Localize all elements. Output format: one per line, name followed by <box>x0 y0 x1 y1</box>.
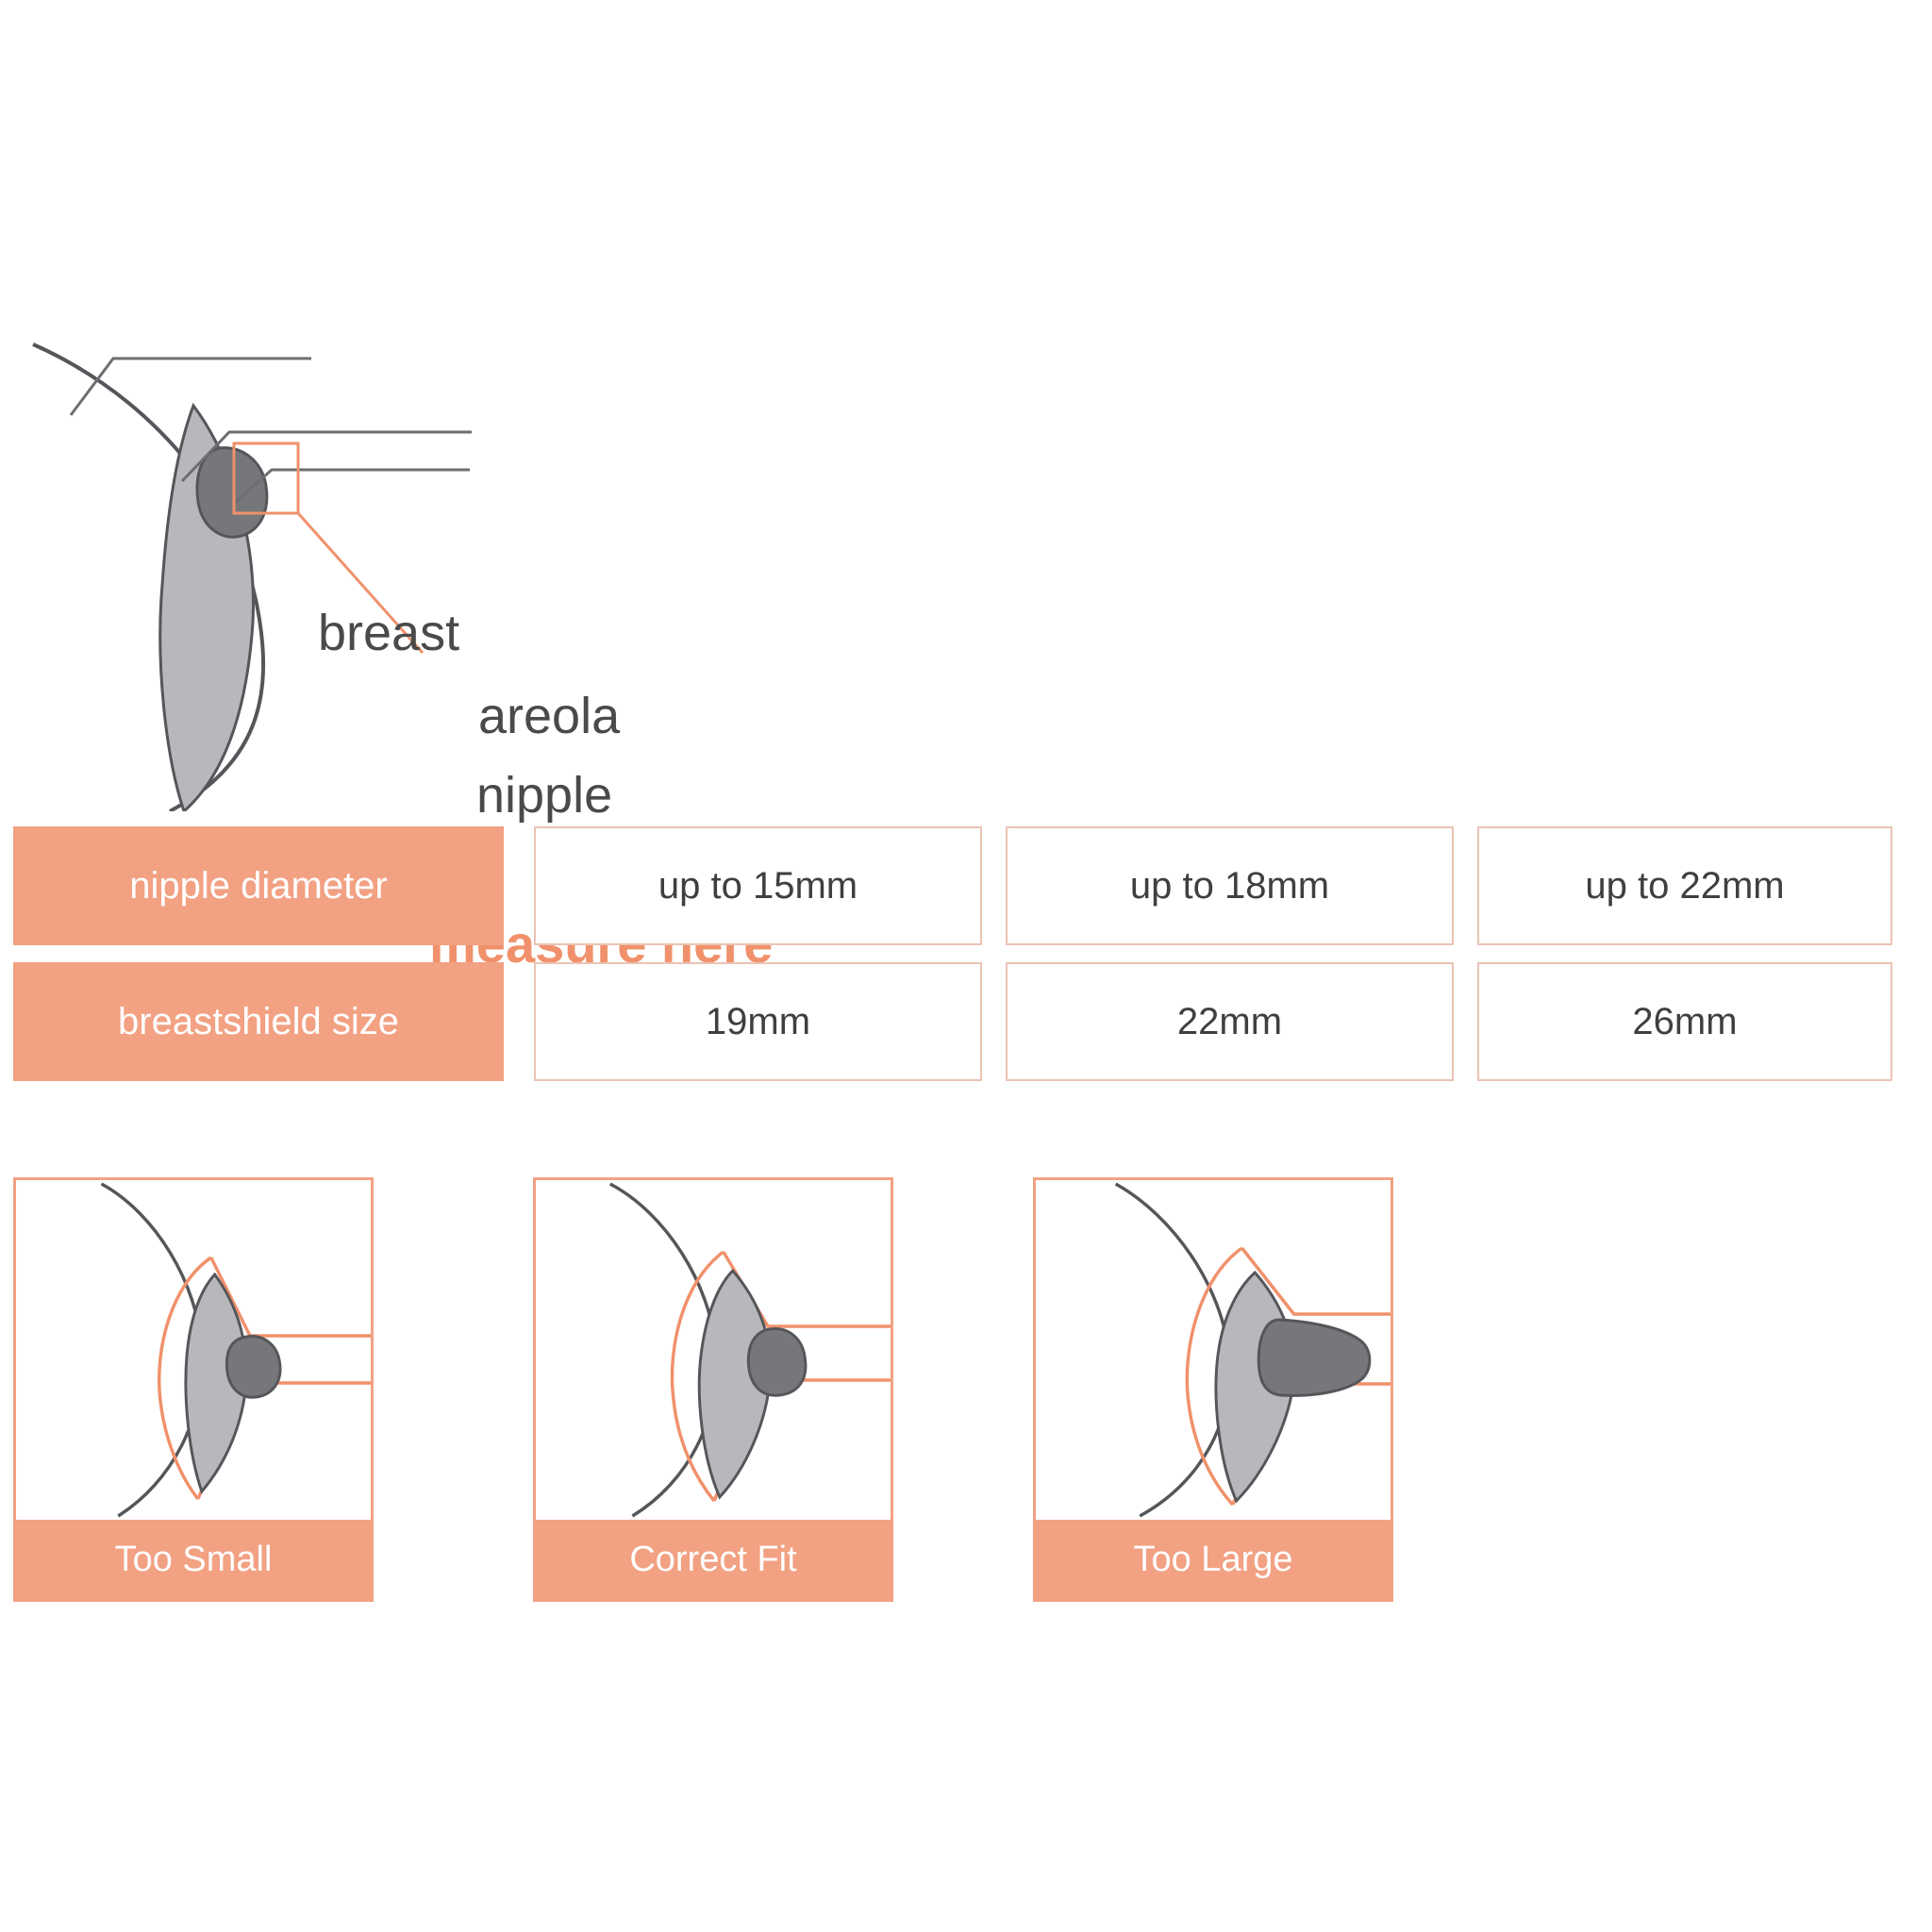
nipple-shape <box>226 1337 280 1398</box>
fit-panel-correct-fit: Correct Fit <box>533 1177 893 1602</box>
fit-comparison-panels: Too Small Correct Fit Too Large <box>0 1177 1932 1621</box>
nipple-shape <box>1258 1320 1370 1395</box>
too-large-illustration <box>1036 1180 1391 1525</box>
label-areola: areola <box>478 687 620 745</box>
table-cell-nipple-diameter-1: up to 15mm <box>534 826 982 945</box>
label-nipple: nipple <box>476 766 612 824</box>
table-cell-nipple-diameter-3: up to 22mm <box>1477 826 1892 945</box>
table-row: breastshield size 19mm 22mm 26mm <box>13 962 1881 1081</box>
nipple-leader-line <box>236 470 470 502</box>
fit-panel-label-correct-fit: Correct Fit <box>536 1520 891 1599</box>
nipple-shape <box>748 1329 806 1396</box>
too-small-illustration <box>16 1180 371 1525</box>
table-row-header-nipple-diameter: nipple diameter <box>13 826 504 945</box>
fit-panel-label-too-large: Too Large <box>1036 1520 1391 1599</box>
nipple-shape <box>197 448 267 538</box>
fit-panel-too-small: Too Small <box>13 1177 374 1602</box>
table-cell-breastshield-size-1: 19mm <box>534 962 982 1081</box>
fit-panel-too-large: Too Large <box>1033 1177 1393 1602</box>
correct-fit-illustration <box>536 1180 891 1525</box>
fit-panel-label-too-small: Too Small <box>16 1520 371 1599</box>
breastshield-sizing-table: nipple diameter up to 15mm up to 18mm up… <box>13 826 1881 1091</box>
breast-outline-path <box>1116 1184 1230 1516</box>
table-cell-breastshield-size-2: 22mm <box>1006 962 1454 1081</box>
label-breast: breast <box>318 604 459 662</box>
table-cell-nipple-diameter-2: up to 18mm <box>1006 826 1454 945</box>
table-row-header-breastshield-size: breastshield size <box>13 962 504 1081</box>
breast-anatomy-diagram: breast areola nipple measure here <box>0 283 1038 811</box>
table-row: nipple diameter up to 15mm up to 18mm up… <box>13 826 1881 945</box>
table-cell-breastshield-size-3: 26mm <box>1477 962 1892 1081</box>
